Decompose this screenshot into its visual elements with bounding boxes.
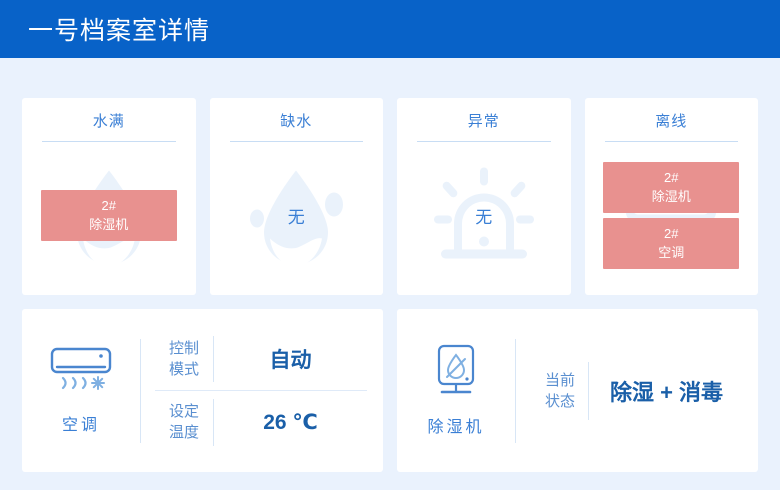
badge-line-1: 2# xyxy=(603,168,739,187)
device-badge[interactable]: 2# 除湿机 xyxy=(41,190,177,241)
status-empty-text: 无 xyxy=(288,203,305,228)
detail-card-row: 空调 控制 模式 自动 设定 温度 xyxy=(22,309,758,472)
badge-line-2: 空调 xyxy=(603,243,739,262)
detail-key-line-2: 温度 xyxy=(155,422,213,443)
detail-key-line-1: 控制 xyxy=(155,338,213,359)
badge-line-1: 2# xyxy=(603,224,739,243)
detail-kv-table: 控制 模式 自动 设定 温度 26 ℃ xyxy=(141,328,383,454)
app-root: 一号档案室详情 水满 2# 除湿机 xyxy=(0,0,780,490)
detail-value: 除湿 + 消毒 xyxy=(589,375,744,407)
title-divider xyxy=(42,141,176,142)
title-divider xyxy=(605,141,739,142)
detail-key: 设定 温度 xyxy=(155,401,213,443)
device-label: 除湿机 xyxy=(427,413,484,437)
dehumidifier-icon xyxy=(427,344,485,405)
status-card-body: 2# 除湿机 2# 空调 xyxy=(585,136,759,295)
title-divider xyxy=(230,141,364,142)
status-empty-text: 无 xyxy=(475,203,492,228)
device-block: 除湿机 xyxy=(397,344,515,437)
status-card-title: 水满 xyxy=(22,98,196,131)
detail-card-air-conditioner[interactable]: 空调 控制 模式 自动 设定 温度 xyxy=(22,309,383,472)
status-card-title: 离线 xyxy=(585,98,759,131)
page-header: 一号档案室详情 xyxy=(0,0,780,58)
badge-line-2: 除湿机 xyxy=(603,187,739,206)
detail-kv-table: 当前 状态 除湿 + 消毒 xyxy=(516,354,758,428)
detail-card-dehumidifier[interactable]: 除湿机 当前 状态 除湿 + 消毒 xyxy=(397,309,758,472)
detail-key-line-2: 模式 xyxy=(155,359,213,380)
badge-line-2: 除湿机 xyxy=(41,215,177,234)
detail-key-line-1: 当前 xyxy=(532,370,588,391)
detail-row: 设定 温度 26 ℃ xyxy=(155,390,367,454)
device-block: 空调 xyxy=(22,346,140,435)
status-card-row: 水满 2# 除湿机 缺水 xyxy=(22,98,758,295)
badge-line-1: 2# xyxy=(41,196,177,215)
detail-key: 控制 模式 xyxy=(155,338,213,380)
detail-key-line-1: 设定 xyxy=(155,401,213,422)
status-card-title: 缺水 xyxy=(210,98,384,131)
status-card-title: 异常 xyxy=(397,98,571,131)
detail-value: 自动 xyxy=(214,344,367,374)
status-card-water-lack[interactable]: 缺水 无 xyxy=(210,98,384,295)
badge-stack: 2# 除湿机 2# 空调 xyxy=(603,162,739,269)
status-card-abnormal[interactable]: 异常 无 xyxy=(397,98,571,295)
detail-key-line-2: 状态 xyxy=(532,391,588,412)
detail-key: 当前 状态 xyxy=(532,370,588,412)
device-badge[interactable]: 2# 空调 xyxy=(603,218,739,269)
device-badge[interactable]: 2# 除湿机 xyxy=(603,162,739,213)
status-card-body: 无 xyxy=(397,136,571,295)
title-divider xyxy=(417,141,551,142)
status-card-water-full[interactable]: 水满 2# 除湿机 xyxy=(22,98,196,295)
status-card-body: 2# 除湿机 xyxy=(22,136,196,295)
page-title: 一号档案室详情 xyxy=(28,11,210,47)
status-card-offline[interactable]: 离线 2# 除湿机 2# 空调 xyxy=(585,98,759,295)
badge-stack: 2# 除湿机 xyxy=(41,190,177,241)
detail-row: 控制 模式 自动 xyxy=(155,328,367,391)
detail-value: 26 ℃ xyxy=(214,410,367,435)
device-label: 空调 xyxy=(62,411,100,435)
status-card-body: 无 xyxy=(210,136,384,295)
air-conditioner-icon xyxy=(48,346,114,403)
